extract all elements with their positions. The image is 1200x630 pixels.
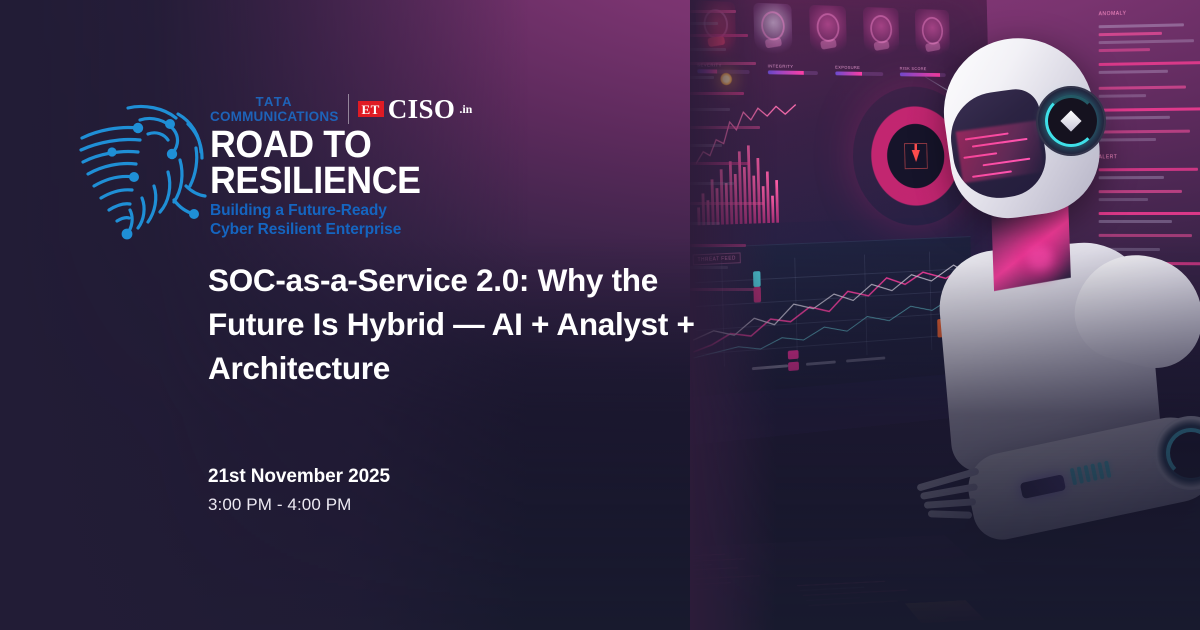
meter: INTEGRITY [768,64,818,75]
et-badge: ET [358,101,384,117]
program-title-line1: ROAD TO [210,128,421,164]
robot-ear-module [1036,86,1106,156]
meter-label: EXPOSURE [835,65,883,71]
meter: EXPOSURE [835,65,883,76]
tagline-line1: Building a Future-Ready [210,202,401,221]
session-time: 3:00 PM - 4:00 PM [208,495,390,515]
brand-lockup: TATA COMMUNICATIONS ET CISO .in ROAD TO … [68,92,488,252]
ciso-tld: .in [459,102,472,117]
meter-label: INTEGRITY [768,64,818,70]
program-tagline: Building a Future-Ready Cyber Resilient … [210,202,401,240]
banner-stage: SOC DASHBOARD SEVERITY INTEGRITY [0,0,1200,630]
fingerprint-shield-icon [68,94,216,250]
tata-logo-line1: TATA [210,95,339,108]
session-schedule: 21st November 2025 3:00 PM - 4:00 PM [208,466,390,515]
partner-logos: TATA COMMUNICATIONS ET CISO .in [210,94,472,124]
logo-divider [348,94,349,124]
content-column: TATA COMMUNICATIONS ET CISO .in ROAD TO … [0,0,700,630]
session-title: SOC-as-a-Service 2.0: Why the Future Is … [208,258,708,390]
threat-emblem [809,5,847,56]
tata-logo-line2: COMMUNICATIONS [210,110,339,124]
session-date: 21st November 2025 [208,466,390,488]
program-title: ROAD TO RESILIENCE [210,128,421,199]
program-title-line2: RESILIENCE [210,164,421,200]
tagline-line2: Cyber Resilient Enterprise [210,221,401,240]
etciso-logo: ET CISO .in [358,96,473,123]
panel-tag: ANOMALY [1099,11,1127,18]
tata-communications-logo: TATA COMMUNICATIONS [210,95,339,124]
threat-emblem [863,7,900,57]
robot-ear-gem [1060,110,1081,131]
ciso-wordmark: CISO [388,96,456,123]
